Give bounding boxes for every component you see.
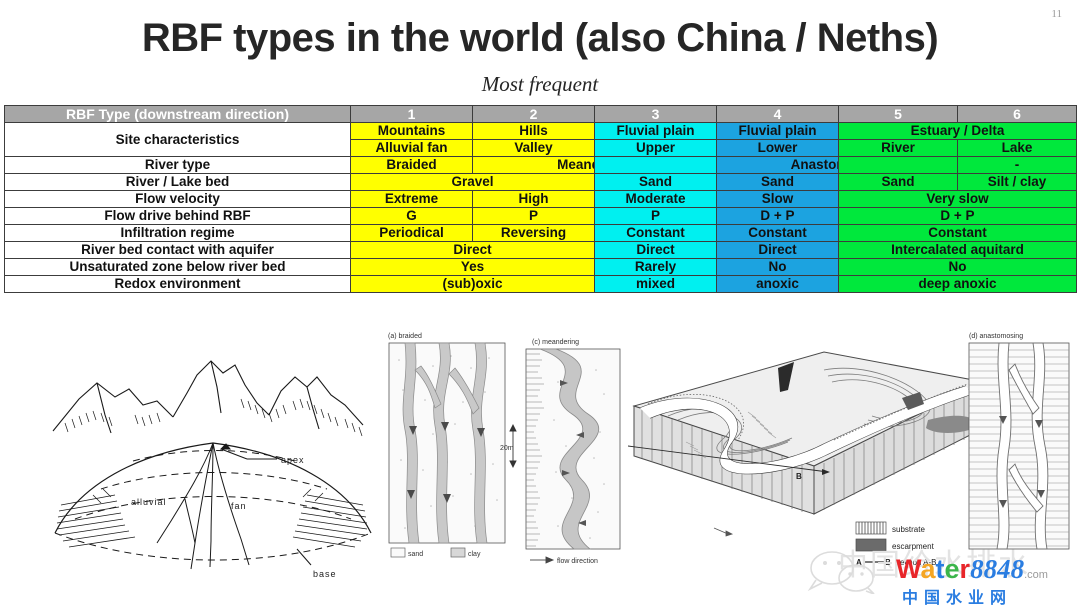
cell-bed-sand-4: Sand — [717, 174, 839, 191]
cell-drive-g: G — [351, 208, 473, 225]
cell-site-upper: Upper — [595, 140, 717, 157]
cell-rivertype-braided: Braided — [351, 157, 473, 174]
cell-site-estuary-delta: Estuary / Delta — [839, 123, 1077, 140]
alluvial-fan-diagram: apex alluvial fan base — [45, 343, 375, 603]
cell-site-lower: Lower — [717, 140, 839, 157]
cell-site-lake: Lake — [958, 140, 1077, 157]
anastomosing-caption: (d) anastomosing — [969, 333, 1023, 340]
cell-drive-p-2: P — [473, 208, 595, 225]
column-header-4: 4 — [717, 106, 839, 123]
block-section-label-b: B — [796, 472, 802, 481]
cell-bed-gravel: Gravel — [351, 174, 595, 191]
table-row: Unsaturated zone below river bed Yes Rar… — [5, 259, 1077, 276]
cell-bed-sand-5: Sand — [839, 174, 958, 191]
table-row: River bed contact with aquifer Direct Di… — [5, 242, 1077, 259]
cell-contact-direct-4: Direct — [717, 242, 839, 259]
row-label-unsaturated-zone: Unsaturated zone below river bed — [5, 259, 351, 276]
column-header-2: 2 — [473, 106, 595, 123]
logo-letter-r: r — [960, 554, 971, 584]
cell-velocity-slow: Slow — [717, 191, 839, 208]
cell-contact-direct-12: Direct — [351, 242, 595, 259]
cell-site-alluvial-fan: Alluvial fan — [351, 140, 473, 157]
cell-drive-dp-4: D + P — [717, 208, 839, 225]
table-row: Infiltration regime Periodical Reversing… — [5, 225, 1077, 242]
cell-rivertype-meandering-left: Meandering — [473, 157, 595, 174]
logo-number: 8848 — [970, 554, 1024, 584]
logo-letter-w: W — [896, 554, 920, 584]
slide-root: 11 RBF types in the world (also China / … — [0, 0, 1080, 608]
watermark-chinese-name: 中国水业网 — [902, 584, 1012, 608]
meandering-scale-label: 20m — [500, 445, 514, 452]
braided-caption: (a) braided — [388, 333, 422, 340]
table-header-label: RBF Type (downstream direction) — [5, 106, 351, 123]
table-row: Redox environment (sub)oxic mixed anoxic… — [5, 276, 1077, 293]
cell-infil-reversing: Reversing — [473, 225, 595, 242]
table-row: Flow drive behind RBF G P P D + P D + P — [5, 208, 1077, 225]
cell-infil-constant-56: Constant — [839, 225, 1077, 242]
logo-letter-e: e — [945, 554, 960, 584]
cell-redox-deep-anoxic: deep anoxic — [839, 276, 1077, 293]
label-fan: fan — [231, 501, 247, 511]
cell-rivertype-anastomosing-left: Anastomosing — [717, 157, 839, 174]
cell-bed-silt-clay: Silt / clay — [958, 174, 1077, 191]
braided-legend-sand: sand — [408, 551, 423, 558]
cell-site-hills: Hills — [473, 123, 595, 140]
cell-site-fluvial-lower: Fluvial plain — [717, 123, 839, 140]
cell-redox-mixed: mixed — [595, 276, 717, 293]
label-alluvial: alluvial — [131, 497, 167, 507]
cell-velocity-very-slow: Very slow — [839, 191, 1077, 208]
cell-contact-direct-3: Direct — [595, 242, 717, 259]
row-label-river-lake-bed: River / Lake bed — [5, 174, 351, 191]
column-header-3: 3 — [595, 106, 717, 123]
cell-drive-dp-56: D + P — [839, 208, 1077, 225]
cell-redox-suboxic: (sub)oxic — [351, 276, 595, 293]
rbf-types-table: RBF Type (downstream direction) 1 2 3 4 … — [4, 105, 1077, 293]
column-header-1: 1 — [351, 106, 473, 123]
cell-velocity-moderate: Moderate — [595, 191, 717, 208]
cell-rivertype-none: - — [958, 157, 1077, 174]
table-row: River / Lake bed Gravel Sand Sand Sand S… — [5, 174, 1077, 191]
label-apex: apex — [281, 455, 305, 465]
cell-infil-constant-4: Constant — [717, 225, 839, 242]
cell-infil-constant-3: Constant — [595, 225, 717, 242]
braided-figure: (a) braided — [385, 330, 515, 580]
row-label-river-type: River type — [5, 157, 351, 174]
logo-letter-a: a — [920, 554, 935, 584]
logo-letter-t: t — [936, 554, 945, 584]
row-label-infiltration-regime: Infiltration regime — [5, 225, 351, 242]
braided-legend-clay: clay — [468, 551, 481, 558]
cell-site-mountains: Mountains — [351, 123, 473, 140]
cell-drive-p-3: P — [595, 208, 717, 225]
label-base: base — [313, 569, 337, 579]
cell-rivertype-anastomosing-right — [839, 157, 958, 174]
row-label-flow-velocity: Flow velocity — [5, 191, 351, 208]
row-label-flow-drive: Flow drive behind RBF — [5, 208, 351, 225]
cell-unsat-no-4: No — [717, 259, 839, 276]
meandering-caption: (c) meandering — [532, 339, 579, 346]
wechat-icon — [804, 548, 884, 594]
table-row: Flow velocity Extreme High Moderate Slow… — [5, 191, 1077, 208]
cell-site-valley: Valley — [473, 140, 595, 157]
row-label-site-characteristics: Site characteristics — [5, 123, 351, 157]
logo-tld: .com — [1024, 569, 1048, 581]
block-legend-substrate: substrate — [892, 525, 925, 534]
table-row: River type Braided Meandering Anastomosi… — [5, 157, 1077, 174]
table-header-row: RBF Type (downstream direction) 1 2 3 4 … — [5, 106, 1077, 123]
page-title: RBF types in the world (also China / Net… — [0, 16, 1080, 61]
cell-infil-periodical: Periodical — [351, 225, 473, 242]
cell-unsat-no-56: No — [839, 259, 1077, 276]
cell-bed-sand-3: Sand — [595, 174, 717, 191]
meandering-figure: (c) meandering 20m — [500, 336, 630, 586]
cell-rivertype-meandering: Meandering — [473, 157, 595, 173]
table-row: Site characteristics Mountains Hills Flu… — [5, 123, 1077, 140]
watermark: 中国给水排水 Water8848.com 中国水业网 — [804, 534, 1072, 604]
cell-contact-intercalated-aquitard: Intercalated aquitard — [839, 242, 1077, 259]
cell-unsat-yes: Yes — [351, 259, 595, 276]
column-header-6: 6 — [958, 106, 1077, 123]
cell-unsat-rarely: Rarely — [595, 259, 717, 276]
column-header-5: 5 — [839, 106, 958, 123]
cell-rivertype-anastomosing: Anastomosing — [717, 157, 839, 173]
cell-redox-anoxic: anoxic — [717, 276, 839, 293]
cell-velocity-high: High — [473, 191, 595, 208]
row-label-riverbed-contact: River bed contact with aquifer — [5, 242, 351, 259]
page-subtitle: Most frequent — [0, 72, 1080, 97]
cell-site-river: River — [839, 140, 958, 157]
cell-velocity-extreme: Extreme — [351, 191, 473, 208]
cell-rivertype-meandering-right — [595, 157, 717, 174]
meandering-flow-label: flow direction — [557, 558, 598, 565]
cell-site-fluvial-upper: Fluvial plain — [595, 123, 717, 140]
row-label-redox-environment: Redox environment — [5, 276, 351, 293]
